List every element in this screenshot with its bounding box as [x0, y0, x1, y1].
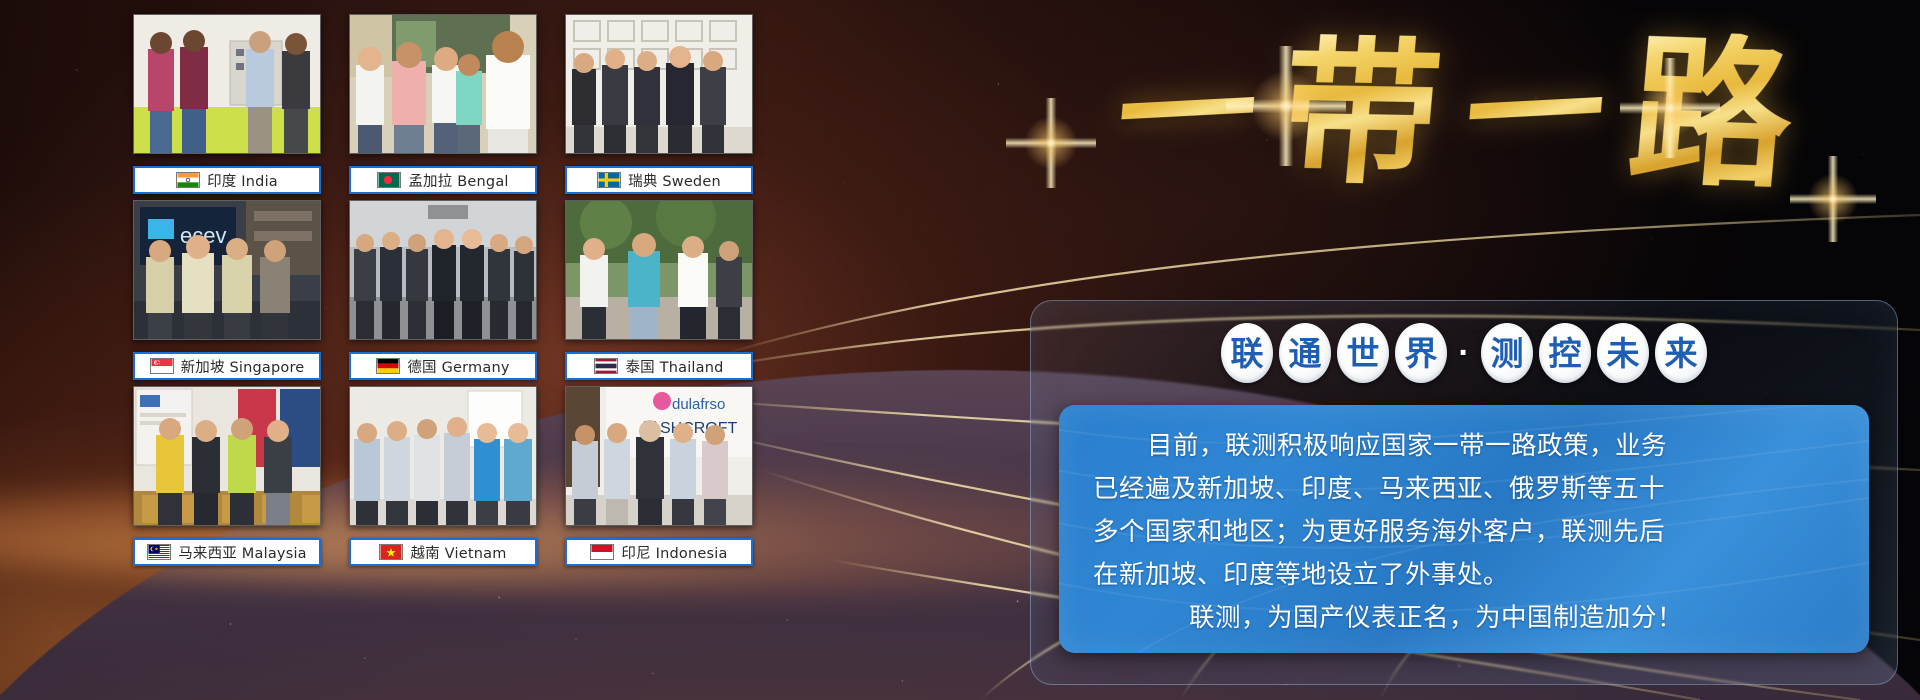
- gallery-tile[interactable]: 德国 Germany: [349, 200, 537, 380]
- country-label-text: 印度 India: [207, 170, 278, 191]
- calligraphy-char: 一: [1460, 41, 1611, 186]
- country-label-text: 越南 Vietnam: [410, 542, 506, 563]
- photo-thumbnail[interactable]: [565, 14, 753, 154]
- slogan-char: 来: [1655, 323, 1707, 383]
- description-text: 目前，联测积极响应国家一带一路政策，业务 已经遍及新加坡、印度、马来西亚、俄罗斯…: [1093, 425, 1835, 640]
- flag-indonesia-icon: [590, 544, 614, 560]
- gallery-tile[interactable]: dulafrso SHCROFT 印尼 I: [565, 386, 753, 566]
- photo-thumbnail[interactable]: [133, 386, 321, 526]
- slogan-char: 控: [1539, 323, 1591, 383]
- photo-thumbnail[interactable]: [349, 14, 537, 154]
- country-label: 德国 Germany: [349, 352, 537, 380]
- country-label: 新加坡 Singapore: [133, 352, 321, 380]
- slogan-char: 世: [1337, 323, 1389, 383]
- photo-thumbnail[interactable]: ecev: [133, 200, 321, 340]
- slogan-char: 联: [1221, 323, 1273, 383]
- gallery-tile[interactable]: 瑞典 Sweden: [565, 14, 753, 194]
- flag-sweden-icon: [597, 172, 621, 188]
- gallery-tile[interactable]: 马来西亚 Malaysia: [133, 386, 321, 566]
- slogan-char: 未: [1597, 323, 1649, 383]
- calligraphy-char: 带: [1275, 33, 1447, 194]
- description-line: 在新加坡、印度等地设立了外事处。: [1093, 554, 1835, 597]
- country-label: 泰国 Thailand: [565, 352, 753, 380]
- slogan-char: 界: [1395, 323, 1447, 383]
- country-label: 印度 India: [133, 166, 321, 194]
- info-panel: 联 通 世 界 · 测 控 未 来 目前，联测积极响应国家一带一路政策，业务: [1030, 300, 1898, 685]
- belt-and-road-headline: 一 带 一 路: [1020, 6, 1890, 221]
- gallery-tile[interactable]: 孟加拉 Bengal: [349, 14, 537, 194]
- photo-thumbnail[interactable]: [349, 386, 537, 526]
- slogan-row: 联 通 世 界 · 测 控 未 来: [1031, 323, 1897, 383]
- description-line: 目前，联测积极响应国家一带一路政策，业务: [1093, 425, 1835, 468]
- calligraphy-char: 路: [1623, 30, 1799, 198]
- calligraphy-char: 一: [1111, 41, 1262, 186]
- country-label: 印尼 Indonesia: [565, 538, 753, 566]
- gallery-tile[interactable]: 越南 Vietnam: [349, 386, 537, 566]
- country-label-text: 瑞典 Sweden: [628, 170, 721, 191]
- flag-malaysia-icon: [147, 544, 171, 560]
- country-photo-grid: 印度 India: [133, 14, 753, 586]
- flag-india-icon: [176, 172, 200, 188]
- country-label: 马来西亚 Malaysia: [133, 538, 321, 566]
- gallery-tile[interactable]: 泰国 Thailand: [565, 200, 753, 380]
- gallery-tile[interactable]: ecev 新加坡 Singapore: [133, 200, 321, 380]
- country-label-text: 泰国 Thailand: [625, 356, 723, 377]
- gallery-tile[interactable]: 印度 India: [133, 14, 321, 194]
- photo-thumbnail[interactable]: [133, 14, 321, 154]
- photo-thumbnail[interactable]: dulafrso SHCROFT: [565, 386, 753, 526]
- description-box: 目前，联测积极响应国家一带一路政策，业务 已经遍及新加坡、印度、马来西亚、俄罗斯…: [1059, 405, 1869, 653]
- description-line: 已经遍及新加坡、印度、马来西亚、俄罗斯等五十: [1093, 468, 1835, 511]
- slogan-char: 通: [1279, 323, 1331, 383]
- country-label: 越南 Vietnam: [349, 538, 537, 566]
- flag-singapore-icon: [150, 358, 174, 374]
- description-line: 多个国家和地区；为更好服务海外客户，联测先后: [1093, 511, 1835, 554]
- photo-thumbnail[interactable]: [349, 200, 537, 340]
- svg-text:dulafrso: dulafrso: [672, 396, 725, 413]
- country-label-text: 印尼 Indonesia: [621, 542, 727, 563]
- flag-vietnam-icon: [379, 544, 403, 560]
- slogan-char: 测: [1481, 323, 1533, 383]
- country-label: 孟加拉 Bengal: [349, 166, 537, 194]
- slogan-separator: ·: [1453, 323, 1475, 383]
- flag-thailand-icon: [594, 358, 618, 374]
- country-label-text: 新加坡 Singapore: [181, 356, 305, 377]
- photo-thumbnail[interactable]: [565, 200, 753, 340]
- flag-bangladesh-icon: [377, 172, 401, 188]
- country-label-text: 马来西亚 Malaysia: [178, 542, 307, 563]
- flag-germany-icon: [376, 358, 400, 374]
- svg-text:SHCROFT: SHCROFT: [660, 420, 738, 437]
- description-line: 联测，为国产仪表正名，为中国制造加分！: [1093, 597, 1835, 640]
- banner-stage: 印度 India: [0, 0, 1920, 700]
- country-label-text: 孟加拉 Bengal: [408, 170, 508, 191]
- country-label: 瑞典 Sweden: [565, 166, 753, 194]
- country-label-text: 德国 Germany: [407, 356, 509, 377]
